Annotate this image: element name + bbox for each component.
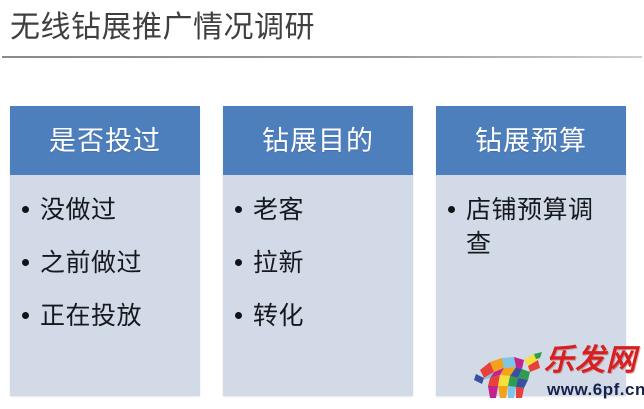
list-item: 没做过 bbox=[22, 193, 192, 227]
list-item: 正在投放 bbox=[22, 299, 192, 333]
card-body: 老客 拉新 转化 bbox=[223, 175, 413, 396]
slide-canvas: 无线钻展推广情况调研 是否投过 没做过 之前做过 正在投放 bbox=[0, 0, 644, 409]
list-item-label: 之前做过 bbox=[40, 246, 142, 280]
list-item: 老客 bbox=[235, 193, 405, 227]
card-header-label: 钻展预算 bbox=[475, 125, 587, 157]
card-body: 没做过 之前做过 正在投放 bbox=[10, 175, 200, 396]
bullet-icon bbox=[22, 259, 29, 266]
card-header: 是否投过 bbox=[10, 106, 200, 175]
card-钻展预算: 钻展预算 店铺预算调查 bbox=[436, 106, 626, 396]
card-body: 店铺预算调查 bbox=[436, 175, 626, 396]
list-item-label: 没做过 bbox=[40, 193, 117, 227]
card-钻展目的: 钻展目的 老客 拉新 转化 bbox=[223, 106, 413, 396]
list-item: 店铺预算调查 bbox=[448, 193, 618, 261]
card-是否投过: 是否投过 没做过 之前做过 正在投放 bbox=[10, 106, 200, 396]
card-header: 钻展目的 bbox=[223, 106, 413, 175]
card-header-label: 是否投过 bbox=[49, 125, 161, 157]
bullet-icon bbox=[22, 312, 29, 319]
list-item-label: 店铺预算调查 bbox=[466, 193, 616, 261]
list-item-label: 老客 bbox=[253, 193, 304, 227]
bullet-icon bbox=[235, 259, 242, 266]
list-item-label: 转化 bbox=[253, 299, 304, 333]
card-group: 是否投过 没做过 之前做过 正在投放 钻展目的 bbox=[0, 0, 644, 409]
list-item-label: 拉新 bbox=[253, 246, 304, 280]
bullet-icon bbox=[235, 206, 242, 213]
list-item: 拉新 bbox=[235, 246, 405, 280]
card-header-label: 钻展目的 bbox=[262, 125, 374, 157]
list-item: 之前做过 bbox=[22, 246, 192, 280]
bullet-icon bbox=[448, 206, 455, 213]
list-item-label: 正在投放 bbox=[40, 299, 142, 333]
bullet-icon bbox=[22, 206, 29, 213]
card-header: 钻展预算 bbox=[436, 106, 626, 175]
list-item: 转化 bbox=[235, 299, 405, 333]
bullet-icon bbox=[235, 312, 242, 319]
